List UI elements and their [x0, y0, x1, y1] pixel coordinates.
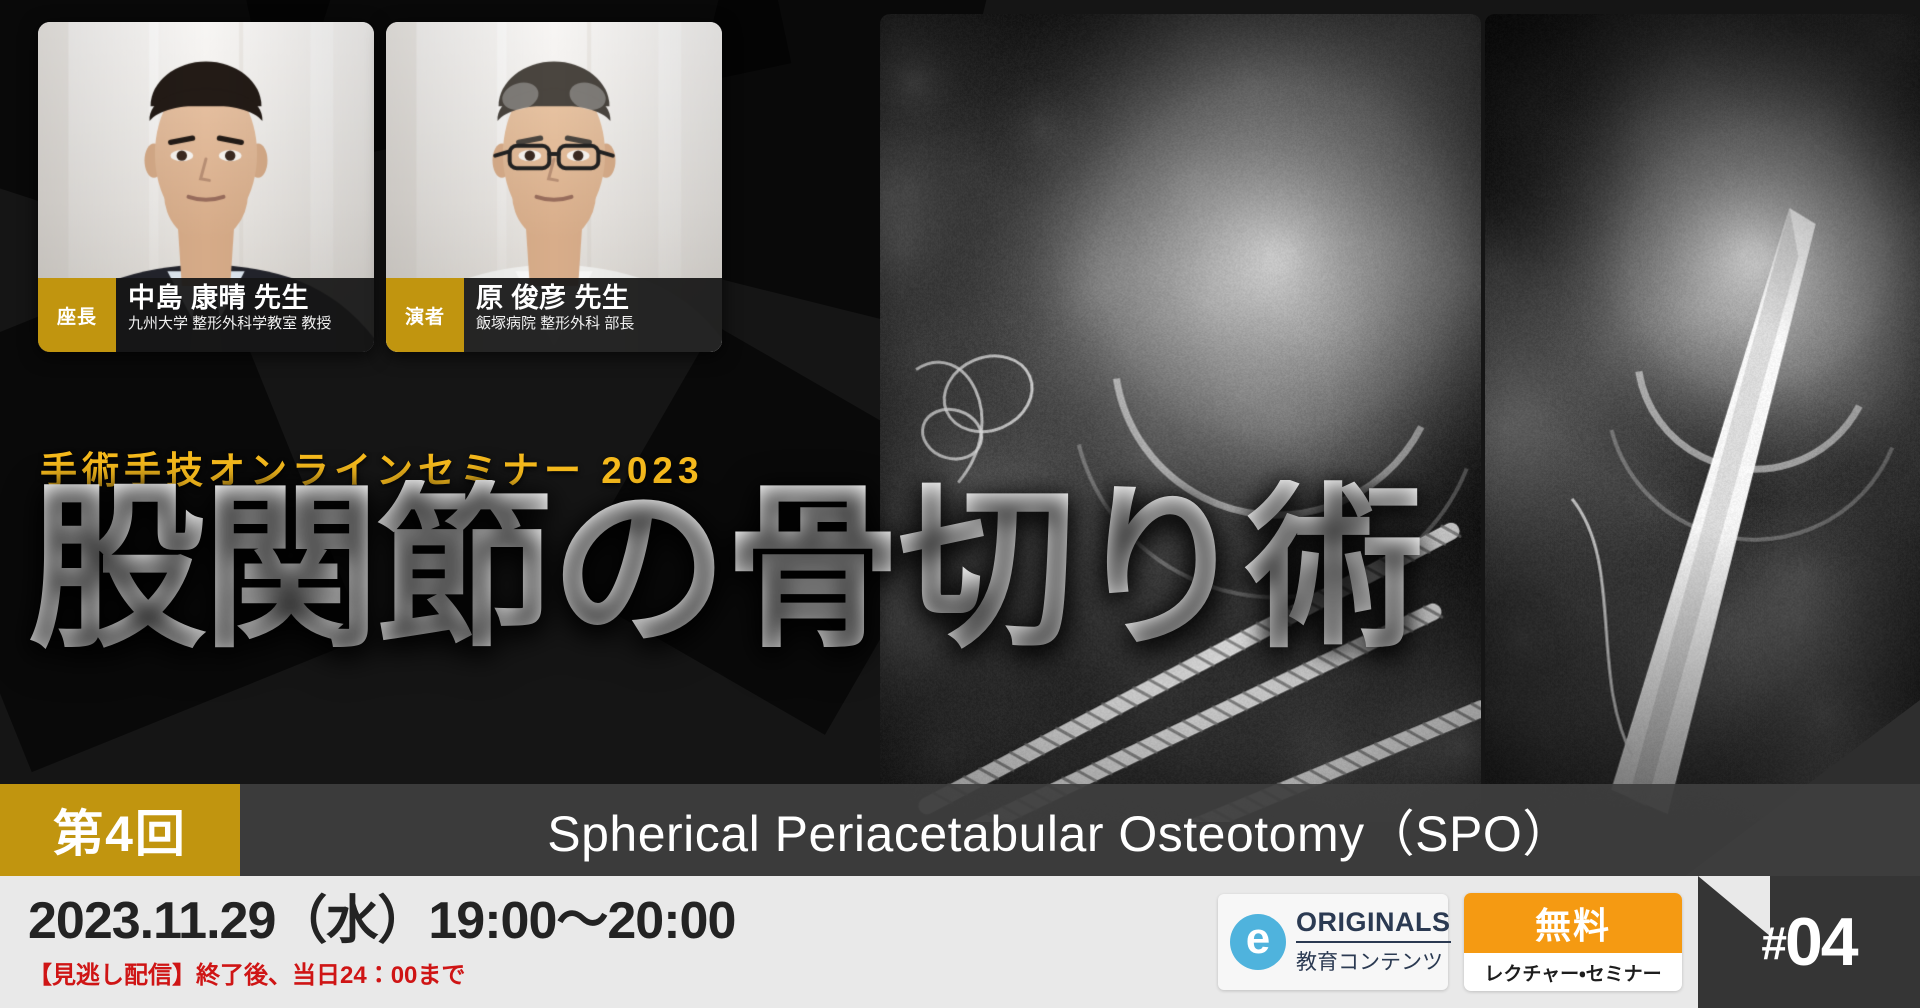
- episode-chip: 第4回: [0, 784, 240, 876]
- presenter-affiliation: 飯塚病院 整形外科 部長: [476, 315, 722, 333]
- xray-left-panel: [880, 14, 1481, 822]
- subtitle-bar: 第4回 Spherical Periacetabular Osteotomy（S…: [0, 784, 1920, 876]
- episode-number: 04: [1785, 904, 1857, 980]
- speaker-card-group: 座長 中島 康晴 先生 九州大学 整形外科学教室 教授 演者 原 俊彦 先生 飯…: [38, 22, 722, 352]
- chairperson-name-bar: 座長 中島 康晴 先生 九州大学 整形外科学教室 教授: [38, 278, 374, 352]
- originals-title: ORIGINALS: [1296, 908, 1451, 943]
- episode-number-badge: #04: [1698, 876, 1920, 1008]
- e-mark-icon: e: [1230, 914, 1286, 970]
- seminar-banner: 座長 中島 康晴 先生 九州大学 整形外科学教室 教授 演者 原 俊彦 先生 飯…: [0, 0, 1920, 1008]
- speaker-card-chairperson: 座長 中島 康晴 先生 九州大学 整形外科学教室 教授: [38, 22, 374, 352]
- xray-image-group: [880, 0, 1920, 822]
- chairperson-affiliation: 九州大学 整形外科学教室 教授: [128, 315, 374, 333]
- free-badge: 無料 レクチャー・セミナー: [1464, 893, 1682, 991]
- hash-symbol: #: [1761, 917, 1785, 969]
- presenter-name: 原 俊彦 先生: [476, 284, 722, 313]
- presenter-role-badge: 演者: [386, 278, 464, 352]
- presenter-name-bar: 演者 原 俊彦 先生 飯塚病院 整形外科 部長: [386, 278, 722, 352]
- footer-badge-group: e ORIGINALS 教育コンテンツ 無料 レクチャー・セミナー #04: [1218, 876, 1920, 1008]
- free-label: 無料: [1464, 893, 1682, 953]
- event-datetime: 2023.11.29（水）19:00〜20:00: [28, 894, 1218, 949]
- footer-left-group: 2023.11.29（水）19:00〜20:00 【見逃し配信】終了後、当日24…: [0, 894, 1218, 990]
- footer-bar: 2023.11.29（水）19:00〜20:00 【見逃し配信】終了後、当日24…: [0, 876, 1920, 1008]
- chairperson-name: 中島 康晴 先生: [128, 284, 374, 313]
- free-category-label: レクチャー・セミナー: [1464, 953, 1682, 991]
- e-originals-badge: e ORIGINALS 教育コンテンツ: [1218, 894, 1448, 990]
- page-title: 股関節の骨切り術: [28, 480, 1420, 658]
- speaker-card-presenter: 演者 原 俊彦 先生 飯塚病院 整形外科 部長: [386, 22, 722, 352]
- xray-right-panel: [1485, 14, 1920, 822]
- subtitle-english: Spherical Periacetabular Osteotomy（SPO）: [240, 784, 1920, 876]
- originals-subtitle: 教育コンテンツ: [1296, 946, 1451, 976]
- replay-note: 【見逃し配信】終了後、当日24：00まで: [28, 955, 1218, 990]
- chairperson-role-badge: 座長: [38, 278, 116, 352]
